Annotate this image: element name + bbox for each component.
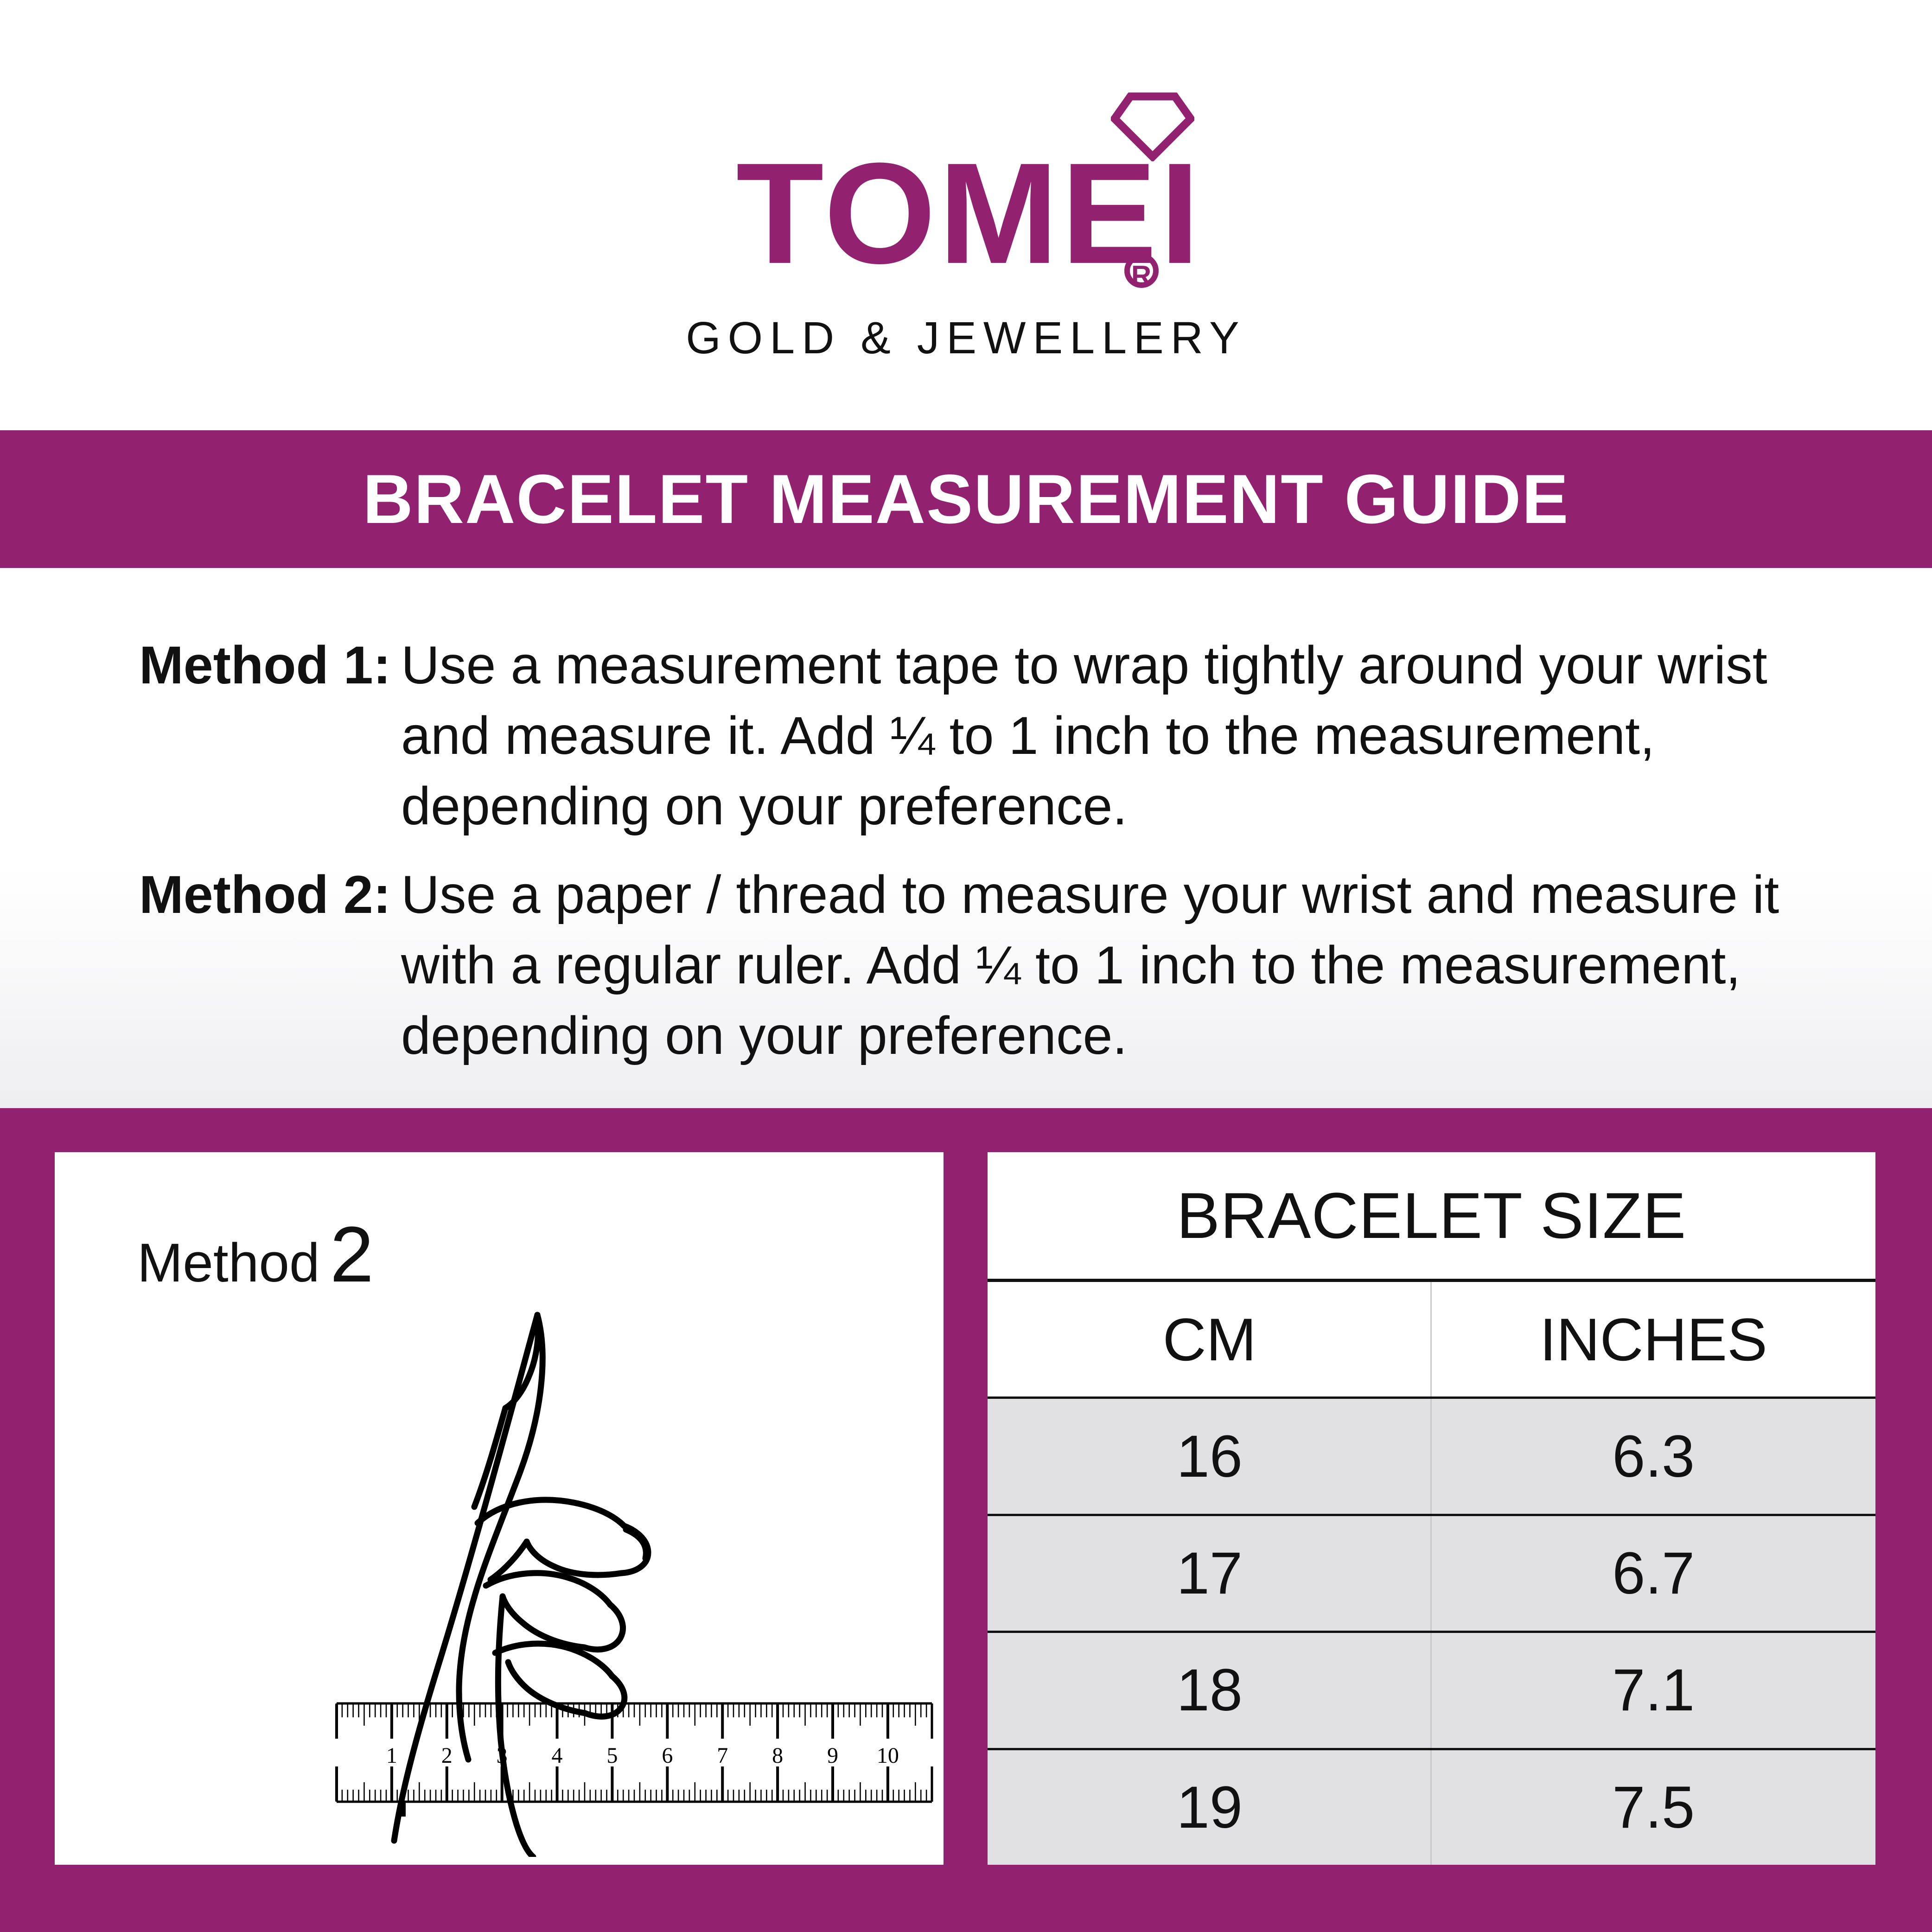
ruler-tick-label: 3 — [497, 1743, 508, 1768]
table-grid: CM INCHES 16 6.3 17 6.7 18 7.1 19 7.5 — [988, 1282, 1875, 1865]
ruler-tick-label: 5 — [606, 1743, 618, 1768]
cell-cm: 19 — [988, 1750, 1432, 1865]
table-row: 16 6.3 — [988, 1396, 1875, 1513]
brand-header: TOMEI R GOLD & JEWELLERY — [0, 0, 1932, 430]
cell-cm: 16 — [988, 1399, 1432, 1513]
ruler-tick-label: 1 — [386, 1743, 397, 1768]
diamond-outline-icon — [1111, 92, 1194, 161]
table-row: 17 6.7 — [988, 1514, 1875, 1631]
method-1-text: Use a measurement tape to wrap tightly a… — [401, 631, 1827, 842]
cell-inches: 7.5 — [1432, 1750, 1876, 1865]
ruler-tick-label: 10 — [877, 1743, 899, 1768]
bottom-panel: Method 2 — [0, 1108, 1932, 1932]
cell-inches: 6.3 — [1432, 1399, 1876, 1513]
table-row: 18 7.1 — [988, 1631, 1875, 1747]
table-row: 19 7.5 — [988, 1748, 1875, 1865]
column-header-cm: CM — [988, 1282, 1432, 1396]
method-2-row: Method 2: Use a paper / thread to measur… — [139, 860, 1827, 1071]
ruler-tick-label: 8 — [772, 1743, 783, 1768]
method-2-label: Method 2: — [139, 860, 401, 931]
cell-inches: 6.7 — [1432, 1516, 1876, 1631]
page-title-banner: BRACELET MEASUREMENT GUIDE — [0, 430, 1932, 568]
brand-logo: TOMEI R GOLD & JEWELLERY — [642, 83, 1291, 364]
ruler-tick-label: 6 — [662, 1743, 673, 1768]
registered-trademark-icon: R — [1124, 254, 1159, 288]
method-2-text: Use a paper / thread to measure your wri… — [401, 860, 1827, 1071]
ruler-tick-label: 7 — [717, 1743, 728, 1768]
ruler-tick-label: 9 — [827, 1743, 838, 1768]
table-title: BRACELET SIZE — [988, 1152, 1875, 1282]
ruler-icon: 12345678910 — [333, 1683, 936, 1822]
ruler-tick-label: 2 — [441, 1743, 453, 1768]
method-1-label: Method 1: — [139, 631, 401, 701]
column-header-inches: INCHES — [1432, 1282, 1876, 1396]
page-title: BRACELET MEASUREMENT GUIDE — [363, 459, 1569, 539]
methods-section: Method 1: Use a measurement tape to wrap… — [0, 568, 1932, 1108]
bracelet-size-table-card: BRACELET SIZE CM INCHES 16 6.3 17 6.7 18… — [988, 1152, 1875, 1865]
cell-cm: 17 — [988, 1516, 1432, 1631]
cell-inches: 7.1 — [1432, 1633, 1876, 1747]
illustration-card: Method 2 — [55, 1152, 944, 1865]
brand-tagline: GOLD & JEWELLERY — [642, 312, 1291, 364]
ruler-tick-label: 4 — [552, 1743, 563, 1768]
table-header-row: CM INCHES — [988, 1282, 1875, 1396]
wordmark-wrap: TOMEI R — [729, 83, 1202, 285]
method-1-row: Method 1: Use a measurement tape to wrap… — [139, 631, 1827, 842]
cell-cm: 18 — [988, 1633, 1432, 1747]
